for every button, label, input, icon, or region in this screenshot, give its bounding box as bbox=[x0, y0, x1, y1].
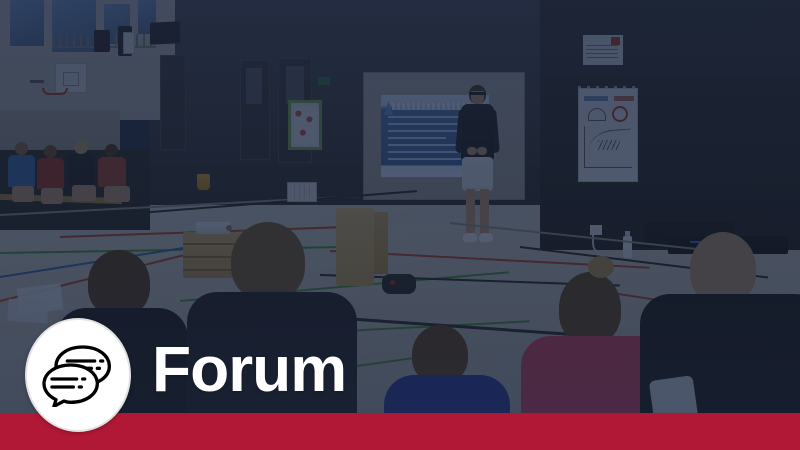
accent-bar bbox=[0, 413, 800, 450]
forum-badge[interactable] bbox=[25, 318, 131, 432]
page-title: Forum bbox=[152, 337, 346, 401]
speech-bubbles-icon bbox=[41, 343, 115, 407]
forum-banner: Forum bbox=[0, 0, 800, 450]
